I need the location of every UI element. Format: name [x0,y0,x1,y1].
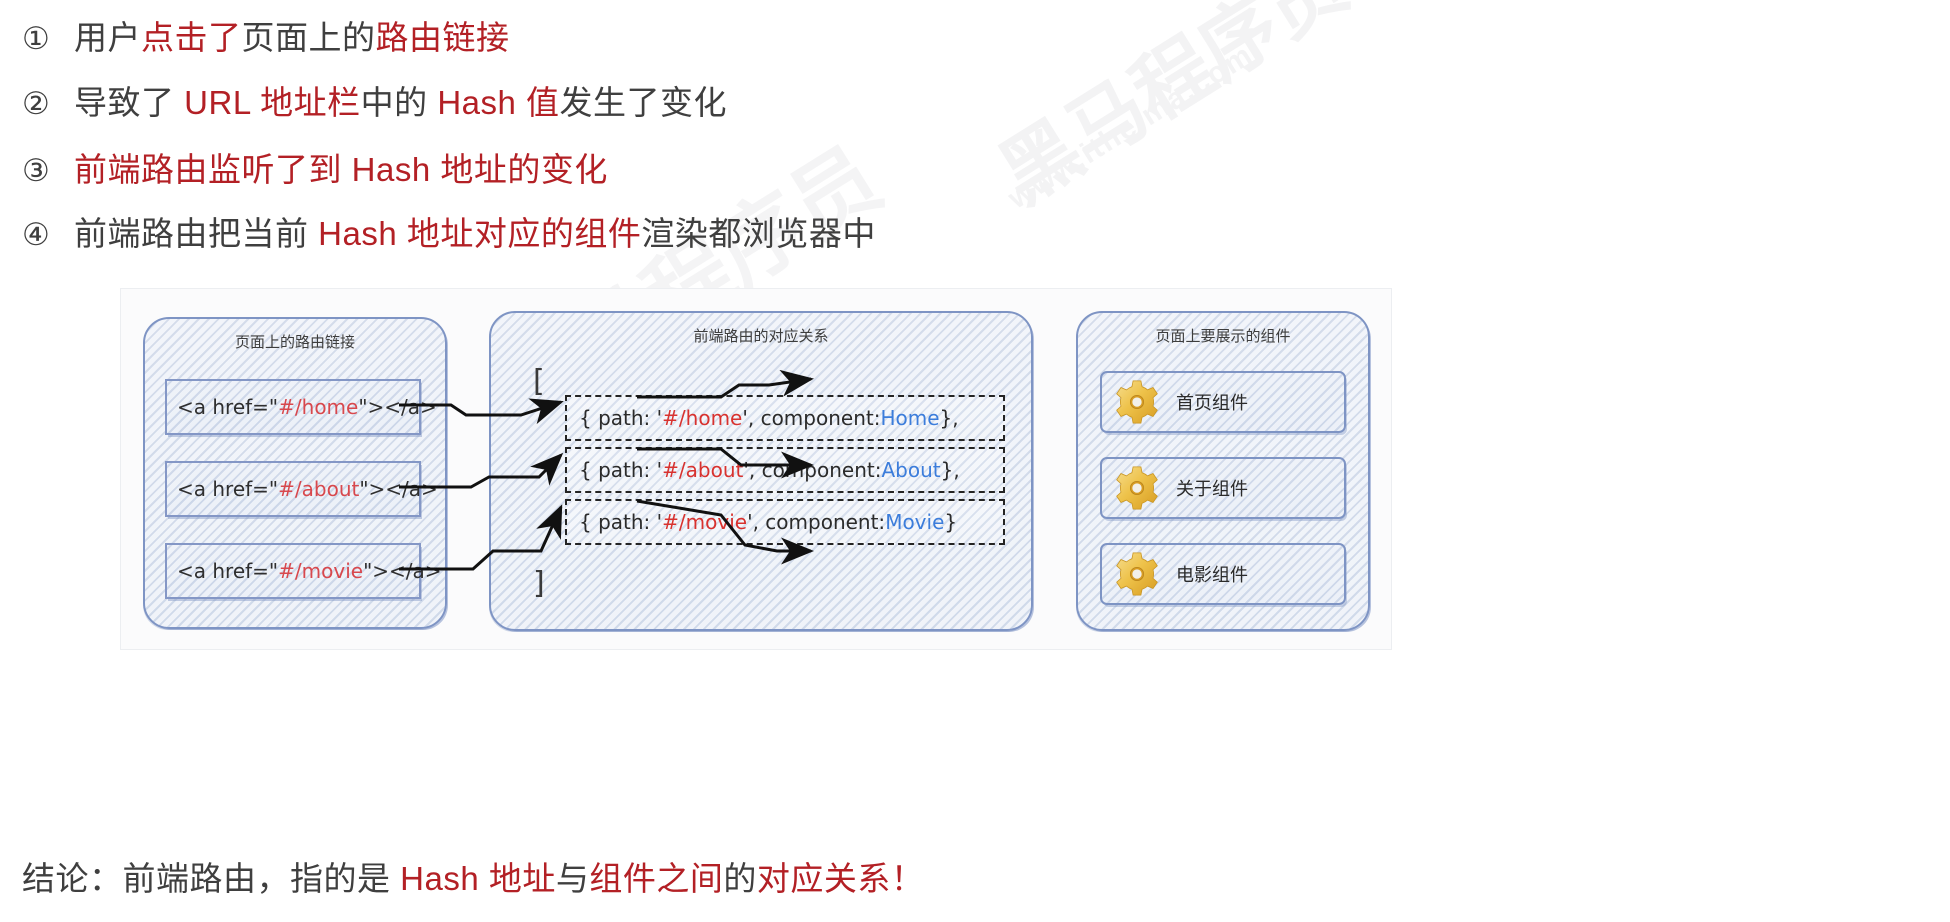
step-number-1: ① [22,21,74,57]
route-link-home[interactable]: <a href="#/home"></a> [165,379,421,435]
component-card-about[interactable]: 关于组件 [1100,457,1346,519]
route-link-movie[interactable]: <a href="#/movie"></a> [165,543,421,599]
array-close-bracket: ] [533,569,545,599]
route-link-movie-prefix: <a href=" [177,559,278,583]
text-run-2: 页面上的 [242,19,376,56]
step-text-2: 导致了 URL 地址栏中的 Hash 值发生了变化 [74,85,727,121]
component-card-movie-label: 电影组件 [1176,561,1248,587]
route-entry-home-component: Home [880,406,939,430]
watermark-url: www.itheima.com [1002,38,1259,216]
route-entry-movie-component: Movie [885,510,944,534]
routing-diagram: 页面上的路由链接 <a href="#/home"></a> <a href="… [120,288,1392,650]
text-run-1: URL 地址栏 [184,84,360,121]
route-link-about-prefix: <a href=" [177,477,278,501]
text-run-1: 点击了 [141,19,242,56]
route-entry-movie-mid: ', component: [747,510,885,534]
route-entry-about-close: }, [941,458,960,482]
text-run-2: 中的 [361,84,438,121]
route-link-about-path: #/about [278,477,359,501]
text-run-3: 组件之间 [589,860,723,897]
panel-components-title: 页面上要展示的组件 [1078,325,1368,346]
text-run-3: Hash 值 [437,84,559,121]
panel-route-table: 前端路由的对应关系 [ ] { path: '#/home', componen… [489,311,1033,631]
text-run-4: 发生了变化 [560,84,728,121]
text-run-0: 导致了 [74,84,184,121]
route-entry-movie[interactable]: { path: '#/movie', component: Movie } [565,499,1005,545]
route-link-home-suffix: "></a> [358,395,436,419]
route-link-movie-suffix: "></a> [363,559,441,583]
step-item-3: ③ 前端路由监听了到 Hash 地址的变化 [22,152,608,189]
step-item-4: ④ 前端路由把当前 Hash 地址对应的组件渲染都浏览器中 [22,216,876,253]
text-run-3: 路由链接 [376,19,510,56]
route-entry-movie-open: { path: ' [579,510,662,534]
panel-route-links: 页面上的路由链接 <a href="#/home"></a> <a href="… [143,317,447,629]
text-run-0: 用户 [74,19,141,56]
route-entry-about-mid: ', component: [743,458,881,482]
array-open-bracket: [ [533,367,545,397]
route-entry-movie-path: #/movie [662,510,747,534]
component-card-home-label: 首页组件 [1176,389,1248,415]
route-link-about-suffix: "></a> [359,477,437,501]
text-run-2: 与 [556,860,590,897]
text-run-4: 的 [723,860,757,897]
gear-icon [1112,463,1162,513]
step-text-4: 前端路由把当前 Hash 地址对应的组件渲染都浏览器中 [74,216,876,252]
slide-root: 黑马程序员 www.itheima.com 黑马程序员 ① 用户点击了页面上的路… [0,0,1950,922]
step-item-2: ② 导致了 URL 地址栏中的 Hash 值发生了变化 [22,85,727,122]
text-run-1: Hash 地址 [400,860,556,897]
text-run-0: 前端路由监听了到 Hash 地址的变化 [74,151,608,188]
component-card-movie[interactable]: 电影组件 [1100,543,1346,605]
step-text-3: 前端路由监听了到 Hash 地址的变化 [74,152,608,188]
route-entry-home[interactable]: { path: '#/home', component: Home }, [565,395,1005,441]
text-run-5: 对应关系！ [757,860,925,897]
text-run-0: 前端路由把当前 [74,215,318,252]
route-entry-home-open: { path: ' [579,406,662,430]
route-entry-home-mid: ', component: [742,406,880,430]
panel-route-table-title: 前端路由的对应关系 [491,325,1031,346]
route-entry-about-path: #/about [662,458,743,482]
route-entry-home-path: #/home [662,406,742,430]
watermark-brand-large: 黑马程序员 [975,0,1365,225]
component-card-about-label: 关于组件 [1176,475,1248,501]
route-link-about[interactable]: <a href="#/about"></a> [165,461,421,517]
route-entry-about-open: { path: ' [579,458,662,482]
route-link-movie-path: #/movie [278,559,363,583]
step-number-3: ③ [22,153,74,189]
route-entry-about-component: About [881,458,940,482]
route-entry-movie-close: } [944,510,957,534]
step-text-1: 用户点击了页面上的路由链接 [74,20,510,56]
panel-components: 页面上要展示的组件 首页 [1076,311,1370,631]
step-item-1: ① 用户点击了页面上的路由链接 [22,20,510,57]
gear-icon [1112,377,1162,427]
route-link-home-prefix: <a href=" [177,395,278,419]
text-run-2: 渲染都浏览器中 [641,215,876,252]
route-entry-home-close: }, [940,406,959,430]
conclusion-text: 结论：前端路由，指的是 Hash 地址与组件之间的对应关系！ [22,852,924,900]
text-run-0: 结论：前端路由，指的是 [22,860,400,897]
route-link-home-path: #/home [278,395,358,419]
component-card-home[interactable]: 首页组件 [1100,371,1346,433]
step-number-2: ② [22,86,74,122]
gear-icon [1112,549,1162,599]
panel-route-links-title: 页面上的路由链接 [145,331,445,352]
route-entry-about[interactable]: { path: '#/about', component: About }, [565,447,1005,493]
text-run-1: Hash 地址对应的组件 [318,215,641,252]
step-number-4: ④ [22,217,74,253]
